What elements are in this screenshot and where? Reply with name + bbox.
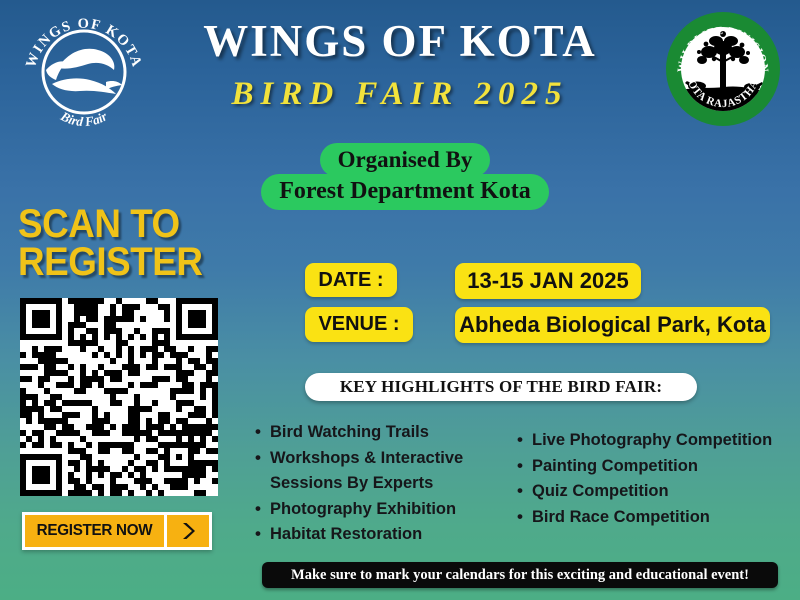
organiser-block: Organised By Forest Department Kota [260,143,550,210]
poster-title: WINGS OF KOTA [160,18,640,65]
wildlife-division-logo-icon: WILDLIFE DIVISION KOTA RAJASTHAN [664,10,782,128]
organiser-line1: Organised By [320,143,491,177]
register-now-label: REGISTER NOW [28,515,160,547]
highlight-right-item: Bird Race Competition [532,505,800,531]
bird-fair-poster: WINGS OF KOTA Bird Fair [0,0,800,600]
highlight-left-item: Bird Watching Trails [270,420,515,446]
date-label: DATE : [305,263,397,297]
wildlife-division-logo: WILDLIFE DIVISION KOTA RAJASTHAN [664,10,782,128]
date-value: 13-15 JAN 2025 [455,263,641,299]
logo-left-bottom-text: Bird Fair [58,108,111,129]
organiser-line2: Forest Department Kota [261,174,548,210]
highlight-right-item: Quiz Competition [532,479,800,505]
highlight-right-item: Live Photography Competition [532,428,800,454]
chevron-right-icon [178,521,198,541]
highlight-right-item: Painting Competition [532,454,800,480]
poster-subtitle: BIRD FAIR 2025 [160,76,640,113]
register-arrow-cell [164,515,209,547]
wings-of-kota-logo-icon: WINGS OF KOTA Bird Fair [18,8,150,136]
highlight-left-item: Photography Exhibition [270,497,515,523]
footer-banner: Make sure to mark your calendars for thi… [262,562,778,588]
qr-code-image [20,298,218,496]
qr-code[interactable] [20,298,218,496]
highlight-left-item: Habitat Restoration [270,522,515,548]
scan-to-register-heading: SCAN TO REGISTER [18,205,216,281]
highlight-left-item: Workshops & Interactive Sessions By Expe… [270,446,515,497]
highlights-left-column: Bird Watching TrailsWorkshops & Interact… [250,420,515,548]
svg-text:Bird Fair: Bird Fair [58,108,111,129]
highlights-right-column: Live Photography CompetitionPainting Com… [512,428,800,530]
highlights-heading: KEY HIGHLIGHTS OF THE BIRD FAIR: [305,373,697,401]
wings-of-kota-logo: WINGS OF KOTA Bird Fair [18,8,150,136]
venue-label: VENUE : [305,307,413,342]
register-now-button[interactable]: REGISTER NOW [22,512,212,550]
scan-heading-line1: SCAN TO [18,205,216,243]
venue-value: Abheda Biological Park, Kota [455,307,770,343]
scan-heading-line2: REGISTER [18,243,216,281]
